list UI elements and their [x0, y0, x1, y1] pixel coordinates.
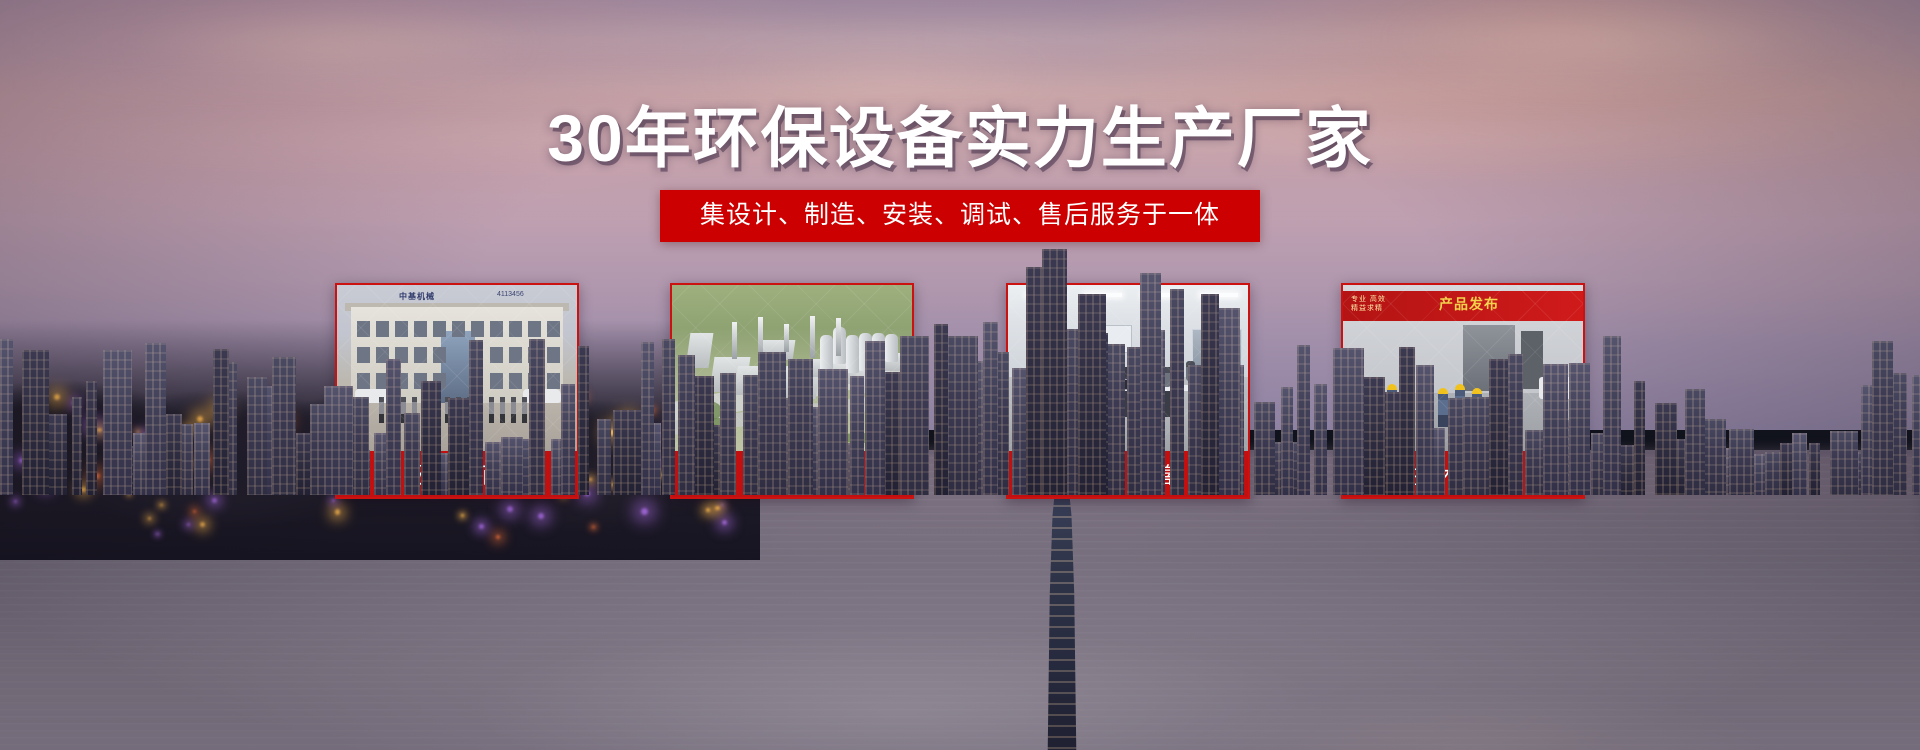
skyline-building: [1314, 384, 1327, 495]
skyline-building: [529, 339, 545, 495]
skyline-building: [324, 386, 354, 495]
staff-person: [489, 397, 494, 423]
skyline-building: [900, 336, 929, 495]
factory-worker: [1438, 393, 1448, 427]
skyline-building: [1872, 341, 1893, 495]
skyline-building: [1362, 377, 1385, 495]
safety-helmet-icon: [1438, 388, 1448, 394]
building-window: [376, 321, 389, 337]
factory-banner-side-text: 专业 高效精益求精: [1351, 295, 1386, 313]
skyline-building: [1201, 294, 1219, 495]
building-window: [509, 321, 522, 337]
skyline-building: [1912, 375, 1920, 495]
storage-silo: [885, 334, 898, 363]
skyline-building: [72, 397, 82, 495]
chimney-stack: [732, 322, 737, 359]
skyline-building: [983, 322, 999, 495]
skyline-building: [103, 350, 132, 495]
skyline-building: [86, 381, 97, 495]
skyline-building: [1042, 249, 1066, 495]
skyline-building: [1569, 363, 1590, 495]
banner-subtitle-bar: 集设计、制造、安装、调试、售后服务于一体: [660, 190, 1260, 242]
skyline-building: [421, 381, 442, 495]
skyline-building: [213, 349, 229, 495]
skyline-building: [469, 340, 482, 495]
skyline-building: [1254, 402, 1275, 495]
building-window: [490, 347, 503, 363]
staff-person: [500, 397, 505, 423]
skyline-building: [1078, 294, 1106, 495]
building-window: [357, 373, 370, 389]
skyline-building: [1792, 433, 1807, 495]
factory-banner-text: 产品发布: [1439, 294, 1499, 314]
skyline-building: [1685, 389, 1705, 495]
building-window: [433, 321, 446, 337]
skyline-building: [1729, 429, 1754, 495]
hero-banner: 30年环保设备实力生产厂家 集设计、制造、安装、调试、售后服务于一体 中基机械4…: [0, 0, 1920, 750]
safety-helmet-icon: [1472, 388, 1482, 394]
skyline-building: [1105, 344, 1124, 495]
building-window: [547, 321, 560, 337]
skyline-building: [818, 369, 847, 495]
building-window: [395, 321, 408, 337]
building-window: [452, 321, 465, 337]
skyline-building: [1655, 403, 1677, 495]
safety-helmet-icon: [1387, 384, 1397, 390]
skyline-building: [678, 355, 694, 495]
skyline-building: [947, 336, 977, 495]
building-window: [433, 347, 446, 363]
skyline-building: [1217, 308, 1241, 495]
building-window: [490, 373, 503, 389]
skyline-building: [1543, 364, 1568, 495]
skyline-building: [501, 437, 523, 495]
skyline-building: [641, 342, 653, 495]
skyline-building: [1416, 365, 1434, 495]
building-window: [509, 373, 522, 389]
building-window: [414, 347, 427, 363]
skyline-building: [613, 410, 640, 495]
skyline-building: [194, 423, 210, 495]
skyline-building: [1508, 354, 1523, 495]
skyline-building: [1170, 289, 1184, 495]
skyline-building: [1281, 387, 1293, 495]
building-window: [509, 347, 522, 363]
chimney-stack: [810, 316, 815, 358]
building-window: [547, 347, 560, 363]
storage-silo: [846, 335, 859, 373]
skyline-building: [22, 350, 49, 495]
skyline-building: [1892, 373, 1907, 495]
skyline-building: [865, 341, 886, 495]
skyline-building: [404, 413, 420, 495]
skyline-building: [597, 419, 611, 495]
banner-subtitle-text: 集设计、制造、安装、调试、售后服务于一体: [700, 201, 1220, 229]
chimney-stack: [784, 324, 789, 352]
skyline-building: [166, 414, 182, 495]
skyline-building: [1634, 381, 1645, 495]
building-window: [357, 347, 370, 363]
skyline-building: [578, 346, 590, 495]
skyline-building: [1399, 347, 1416, 495]
skyline-building: [1333, 348, 1364, 495]
skyline-building: [561, 384, 575, 495]
skyline-building: [720, 373, 735, 495]
skyline-building: [788, 359, 813, 495]
skyline-building: [1140, 273, 1161, 495]
skyline-building: [272, 357, 296, 495]
building-window: [471, 321, 484, 337]
building-sign: 中基机械: [399, 291, 435, 302]
banner-headline: 30年环保设备实力生产厂家: [0, 102, 1920, 174]
skyline-building: [386, 359, 402, 495]
building-window: [414, 321, 427, 337]
skyline-building: [1297, 345, 1310, 495]
skyline-building: [758, 352, 786, 495]
skyline-building: [1603, 336, 1622, 495]
building-window: [528, 321, 541, 337]
skyline-building: [1830, 431, 1858, 495]
building-phone-sign: 4113456: [497, 291, 524, 298]
safety-helmet-icon: [1455, 384, 1465, 390]
staff-person: [379, 397, 384, 423]
staff-person: [522, 397, 527, 423]
staff-person: [511, 397, 516, 423]
skyline-building: [1765, 452, 1780, 495]
building-window: [490, 321, 503, 337]
chimney-stack: [836, 318, 841, 356]
building-window: [357, 321, 370, 337]
skyline-building: [850, 376, 864, 495]
skyline-building: [934, 324, 948, 495]
skyline-building: [145, 343, 165, 495]
skyline-building: [1809, 443, 1819, 495]
skyline-building: [662, 339, 675, 495]
building-window: [547, 373, 560, 389]
skyline-building: [247, 377, 267, 495]
skyline-building: [0, 339, 13, 495]
